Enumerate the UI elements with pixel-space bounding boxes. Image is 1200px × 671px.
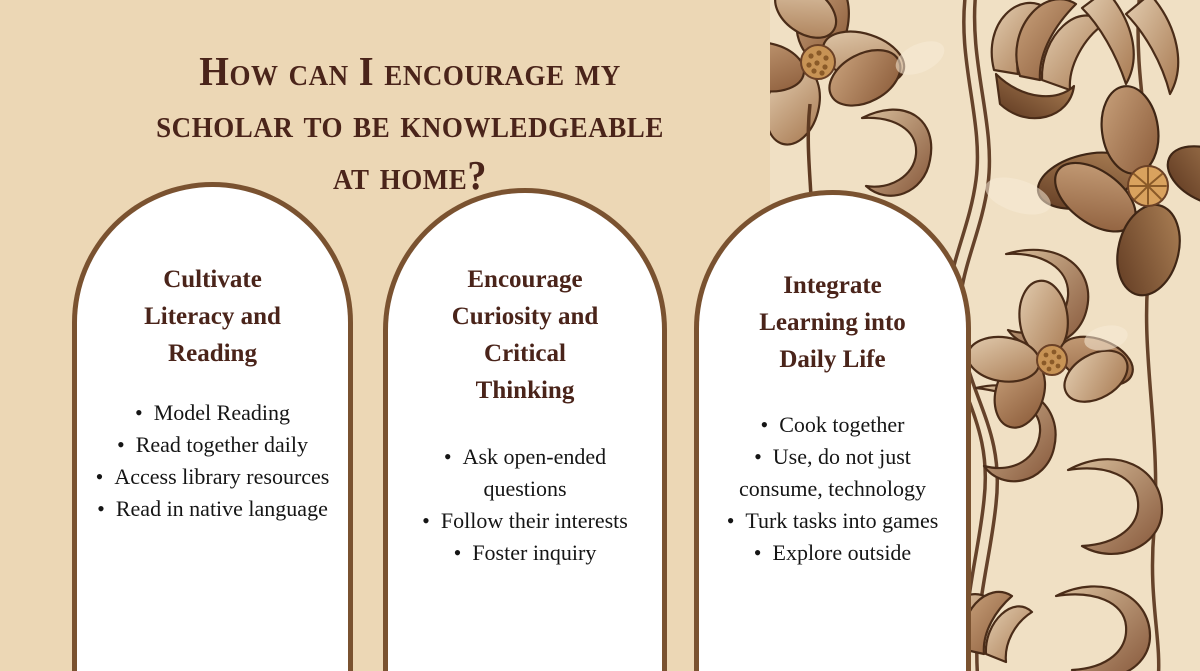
arch-card-curiosity: Encourage Curiosity and Critical Thinkin… (383, 188, 667, 671)
arch-card-heading: Cultivate Literacy and Reading (77, 261, 348, 372)
arch-card-bullet-list: Ask open-ended questions Follow their in… (388, 441, 662, 569)
arch-card-content: Cultivate Literacy and Reading Model Rea… (77, 261, 348, 525)
list-item: Turk tasks into games (711, 505, 954, 537)
list-item: Explore outside (711, 537, 954, 569)
arch-card-bullet-list: Cook together Use, do not just consume, … (699, 409, 966, 569)
list-item: Access library resources (89, 461, 336, 493)
arch-card-literacy: Cultivate Literacy and Reading Model Rea… (72, 182, 353, 671)
list-item: Model Reading (89, 397, 336, 429)
heading-line-4: Thinking (476, 377, 575, 404)
page-title: How can I encourage my scholar to be kno… (85, 45, 736, 201)
arch-card-heading: Encourage Curiosity and Critical Thinkin… (388, 261, 662, 409)
poster-canvas: How can I encourage my scholar to be kno… (0, 0, 1200, 671)
list-item: Read together daily (89, 429, 336, 461)
arch-card-bullet-list: Model Reading Read together daily Access… (77, 397, 348, 525)
heading-line-2: Literacy and (144, 303, 281, 330)
arch-card-content: Integrate Learning into Daily Life Cook … (699, 267, 966, 569)
heading-line-1: Encourage (467, 266, 582, 293)
arch-card-daily-life: Integrate Learning into Daily Life Cook … (694, 190, 971, 671)
heading-line-3: Daily Life (779, 346, 885, 373)
list-item: Foster inquiry (400, 537, 650, 569)
list-item: Read in native language (89, 493, 336, 525)
title-line-2: scholar to be knowledgeable (85, 97, 736, 149)
heading-line-2: Curiosity and (452, 303, 599, 330)
list-item: Cook together (711, 409, 954, 441)
list-item: Follow their interests (400, 505, 650, 537)
list-item: Use, do not just consume, technology (711, 441, 954, 505)
heading-line-2: Learning into (759, 309, 906, 336)
heading-line-3: Reading (168, 340, 257, 367)
arch-card-heading: Integrate Learning into Daily Life (699, 267, 966, 378)
title-line-1: How can I encourage my (85, 45, 736, 97)
list-item: Ask open-ended questions (400, 441, 650, 505)
heading-line-3: Critical (484, 340, 566, 367)
arch-card-content: Encourage Curiosity and Critical Thinkin… (388, 261, 662, 569)
heading-line-1: Cultivate (163, 266, 262, 293)
heading-line-1: Integrate (783, 272, 882, 299)
